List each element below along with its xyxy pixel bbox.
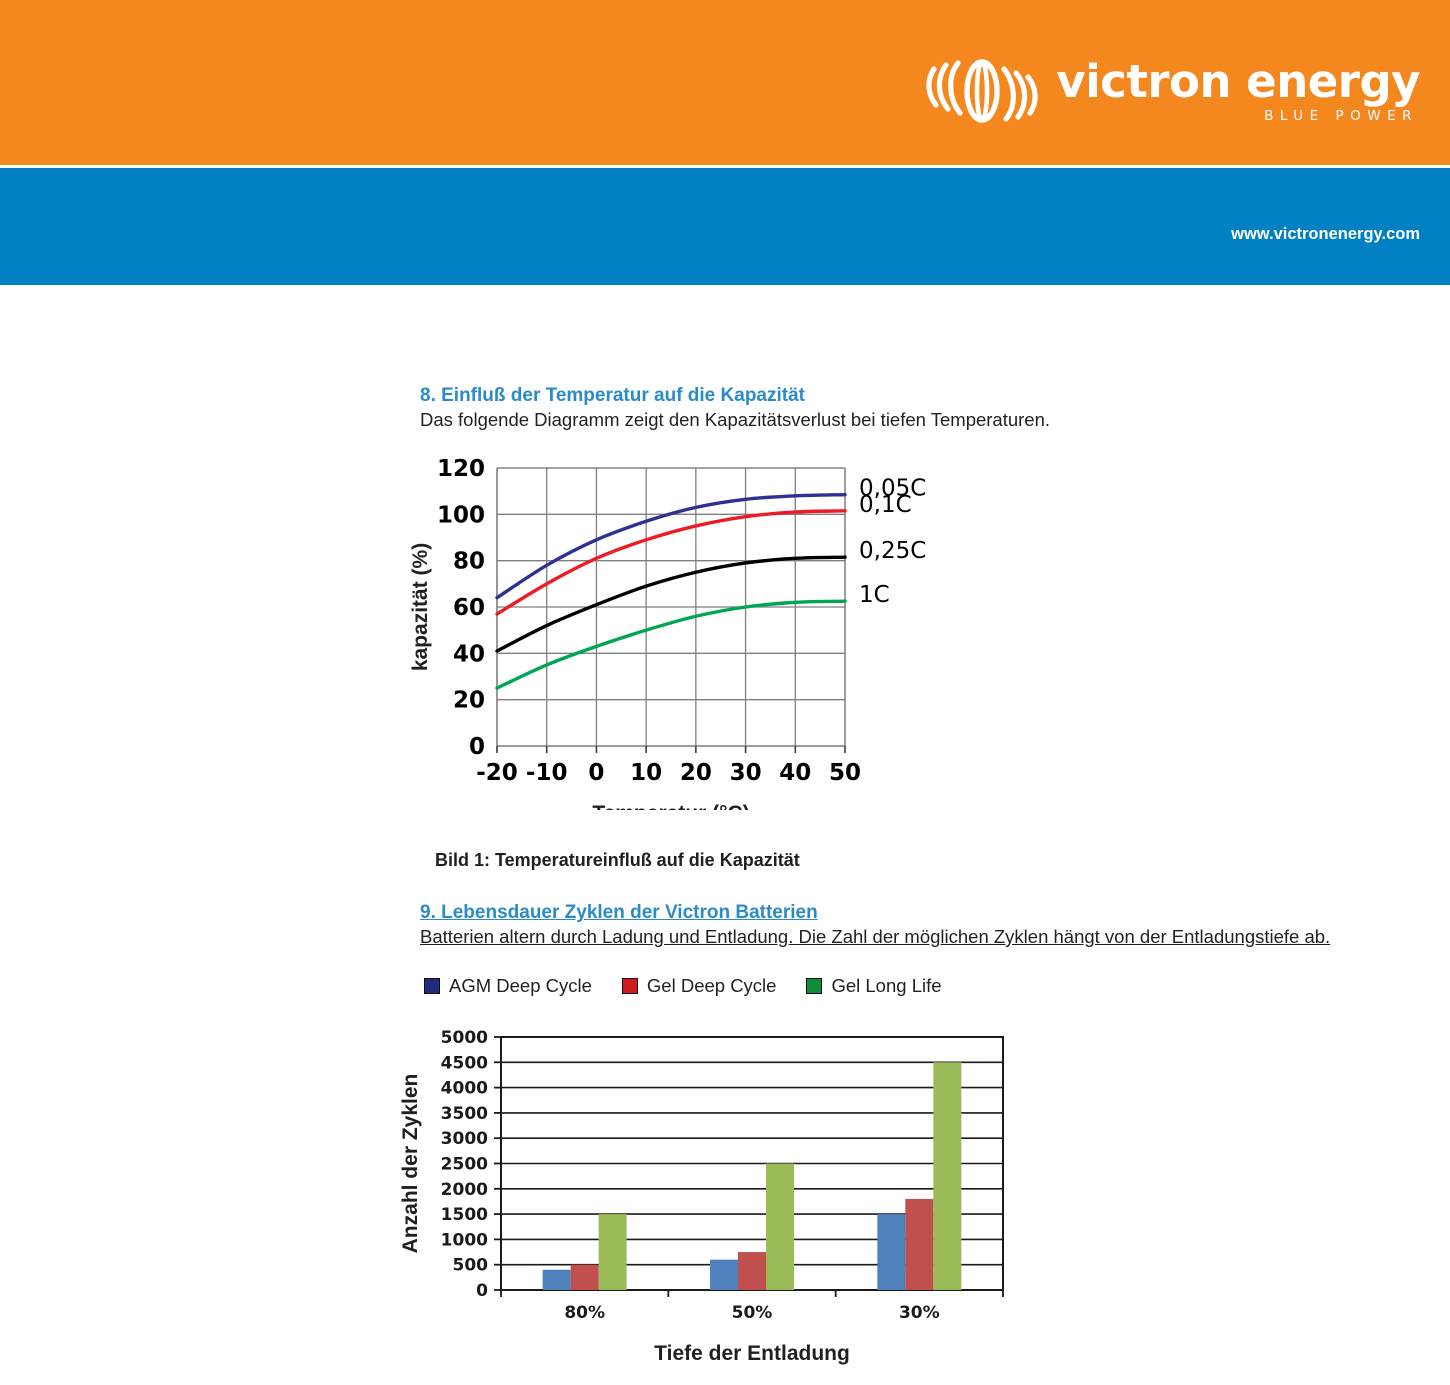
axis-label-x: 50% — [732, 1303, 773, 1323]
section-8-body: Das folgende Diagramm zeigt den Kapazitä… — [420, 409, 1050, 431]
legend-item: Gel Deep Cycle — [622, 975, 777, 997]
victron-logo: victron energy BLUE POWER — [922, 55, 1420, 127]
section-9-body: Batterien altern durch Ladung und Entlad… — [420, 926, 1330, 948]
legend-item: AGM Deep Cycle — [424, 975, 592, 997]
y-axis-title: Anzahl der Zyklen — [399, 1074, 422, 1254]
series-label: 0,1C — [859, 492, 912, 518]
axis-label-y: 60 — [453, 595, 485, 621]
legend-item: Gel Long Life — [806, 975, 941, 997]
legend-label: AGM Deep Cycle — [449, 975, 592, 997]
series-label: 1C — [859, 582, 890, 608]
legend-label: Gel Long Life — [831, 975, 941, 997]
axis-label-x: 20 — [680, 760, 712, 786]
axis-label-x: 30 — [730, 760, 762, 786]
bar — [933, 1062, 961, 1290]
axis-label-y: 100 — [437, 502, 485, 528]
axis-label-y: 80 — [453, 549, 485, 575]
axis-label-x: 10 — [630, 760, 662, 786]
bar — [543, 1270, 571, 1290]
legend-swatch-icon — [806, 978, 822, 994]
bar — [738, 1252, 766, 1290]
axis-label-y: 1000 — [441, 1230, 488, 1250]
section-9-heading: 9. Lebensdauer Zyklen der Victron Batter… — [420, 902, 818, 924]
legend-swatch-icon — [622, 978, 638, 994]
axis-label-y: 500 — [453, 1256, 489, 1276]
temperature-capacity-chart: 020406080100120-20-10010203040500,05C0,1… — [405, 450, 965, 810]
axis-label-x: 0 — [588, 760, 604, 786]
cycle-life-chart: 0500100015002000250030003500400045005000… — [395, 1025, 1035, 1385]
brand-tagline: BLUE POWER — [1264, 110, 1418, 124]
axis-label-y: 0 — [476, 1281, 488, 1301]
bar — [877, 1214, 905, 1290]
axis-label-y: 2000 — [441, 1180, 488, 1200]
bar-chart-legend: AGM Deep CycleGel Deep CycleGel Long Lif… — [424, 975, 972, 997]
axis-label-x: 30% — [899, 1303, 940, 1323]
y-axis-title: kapazität (%) — [409, 543, 432, 671]
brand-name: victron energy — [1056, 59, 1420, 104]
bar — [766, 1164, 794, 1291]
bar — [905, 1199, 933, 1290]
legend-label: Gel Deep Cycle — [647, 975, 777, 997]
axis-label-y: 3500 — [441, 1104, 488, 1124]
axis-label-x: 40 — [779, 760, 811, 786]
figure-1-caption: Bild 1: Temperatureinfluß auf die Kapazi… — [435, 850, 800, 871]
axis-label-y: 120 — [437, 456, 485, 482]
axis-label-y: 40 — [453, 641, 485, 667]
axis-label-y: 3000 — [441, 1129, 488, 1149]
axis-label-y: 20 — [453, 688, 485, 714]
bar — [571, 1265, 599, 1290]
section-8-heading: 8. Einfluß der Temperatur auf die Kapazi… — [420, 385, 805, 407]
axis-label-y: 5000 — [441, 1028, 488, 1048]
x-axis-title: Tiefe der Entladung — [654, 1342, 850, 1365]
axis-label-y: 0 — [469, 734, 485, 760]
axis-label-y: 2500 — [441, 1155, 488, 1175]
axis-label-x: 50 — [829, 760, 861, 786]
x-axis-title: Temperatur (°C) — [592, 802, 749, 810]
axis-label-y: 4500 — [441, 1053, 488, 1073]
series-line — [497, 601, 845, 688]
series-label: 0,25C — [859, 538, 926, 564]
axis-label-y: 1500 — [441, 1205, 488, 1225]
bar — [710, 1260, 738, 1290]
axis-label-y: 4000 — [441, 1079, 488, 1099]
legend-swatch-icon — [424, 978, 440, 994]
axis-label-x: -10 — [526, 760, 568, 786]
axis-label-x: -20 — [476, 760, 518, 786]
website-url[interactable]: www.victronenergy.com — [1231, 225, 1420, 244]
victron-swoosh-icon — [922, 55, 1042, 127]
bar — [599, 1214, 627, 1290]
axis-label-x: 80% — [564, 1303, 605, 1323]
